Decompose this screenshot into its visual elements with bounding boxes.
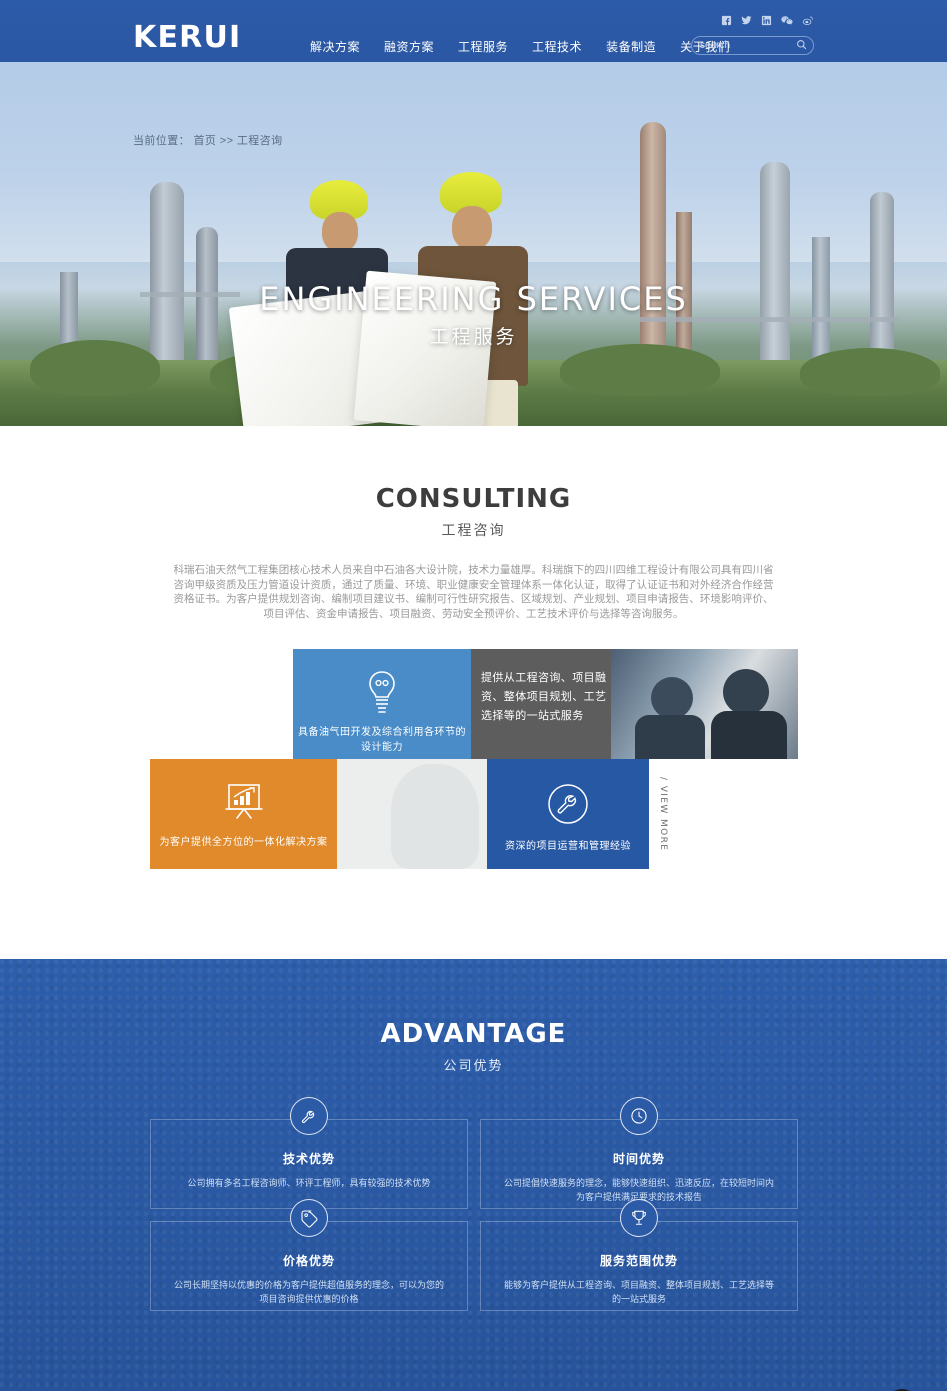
feature-blocks: 具备油气田开发及综合利用各环节的设计能力 提供从工程咨询、项目融资、整体项目规划…: [0, 649, 947, 897]
feature-block-one-stop-service[interactable]: 提供从工程咨询、项目融资、整体项目规划、工艺选择等的一站式服务: [471, 649, 611, 759]
decorative-silhouette: [391, 764, 479, 869]
social-links: [721, 15, 814, 26]
advantage-title-en: ADVANTAGE: [0, 1019, 947, 1049]
banner-title-en: ENGINEERING SERVICES: [0, 280, 947, 318]
breadcrumb: 当前位置： 首页 >> 工程咨询: [133, 132, 282, 148]
nav-item-equipment-manufacturing[interactable]: 装备制造: [606, 38, 656, 55]
wechat-icon[interactable]: [781, 15, 793, 26]
twitter-icon[interactable]: [741, 15, 752, 26]
photo-person-body: [711, 711, 787, 759]
clock-icon: [620, 1097, 658, 1135]
worker-face: [322, 212, 358, 252]
banner-title-cn: 工程服务: [0, 322, 947, 349]
advantage-card-service-scope[interactable]: 服务范围优势 能够为客户提供从工程咨询、项目融资、整体项目规划、工艺选择等的一站…: [480, 1221, 798, 1311]
trophy-icon: [620, 1199, 658, 1237]
nav-item-engineering-services[interactable]: 工程服务: [458, 38, 508, 55]
breadcrumb-prefix: 当前位置：: [133, 135, 190, 147]
consulting-section: CONSULTING 工程咨询 科瑞石油天然气工程集团核心技术人员来自中石油各大…: [0, 426, 947, 621]
presentation-chart-icon: [222, 781, 266, 823]
advantage-heading: ADVANTAGE 公司优势: [0, 959, 947, 1074]
view-more-link[interactable]: / VIEW MORE: [652, 759, 674, 869]
advantage-card-time[interactable]: 时间优势 公司提倡快速服务的理念，能够快速组织、迅速反应，在较短时间内为客户提供…: [480, 1119, 798, 1209]
feature-block-caption: 资深的项目运营和管理经验: [487, 839, 649, 854]
feature-block-management-experience[interactable]: 资深的项目运营和管理经验: [487, 759, 649, 869]
advantage-card-text: 公司长期坚持以优惠的价格为客户提供超值服务的理念，可以为您的项目咨询提供优惠的价…: [173, 1278, 445, 1306]
view-more-label: / VIEW MORE: [658, 777, 668, 851]
breadcrumb-current: 工程咨询: [237, 135, 283, 147]
advantage-card-title: 时间优势: [481, 1150, 797, 1167]
photo-person-body: [635, 715, 705, 759]
consulting-title-en: CONSULTING: [0, 484, 947, 514]
feature-block-caption: 为客户提供全方位的一体化解决方案: [150, 835, 337, 850]
linkedin-icon[interactable]: [761, 15, 772, 26]
price-tag-icon: [290, 1199, 328, 1237]
advantage-card-title: 服务范围优势: [481, 1252, 797, 1269]
lightbulb-icon: [362, 669, 402, 715]
site-header: KERUI 解决方案 融资方案 工程服务 工程技术 装备制造 关于我们: [0, 0, 947, 62]
logo[interactable]: KERUI: [133, 20, 241, 55]
advantage-card-title: 价格优势: [151, 1252, 467, 1269]
page-root: KERUI 解决方案 融资方案 工程服务 工程技术 装备制造 关于我们: [0, 0, 947, 1391]
advantage-title-cn: 公司优势: [0, 1055, 947, 1074]
main-nav: 解决方案 融资方案 工程服务 工程技术 装备制造 关于我们: [310, 38, 730, 55]
feature-block-caption: 具备油气田开发及综合利用各环节的设计能力: [293, 725, 471, 755]
worker-face: [452, 206, 492, 250]
advantage-card-text: 公司拥有多名工程咨询师、环评工程师，具有较强的技术优势: [173, 1176, 445, 1190]
advantage-section: ADVANTAGE 公司优势 技术优势 公司拥有多名工程咨询师、环评工程师，具有…: [0, 959, 947, 1391]
feature-block-integrated-solution[interactable]: 为客户提供全方位的一体化解决方案: [150, 759, 337, 869]
breadcrumb-separator: >>: [220, 135, 234, 147]
wrench-icon: [290, 1097, 328, 1135]
advantage-grid: 技术优势 公司拥有多名工程咨询师、环评工程师，具有较强的技术优势 时间优势 公司…: [150, 1119, 798, 1311]
feature-block-text: 提供从工程咨询、项目融资、整体项目规划、工艺选择等的一站式服务: [471, 649, 611, 726]
bush: [800, 348, 940, 396]
facebook-icon[interactable]: [721, 15, 732, 26]
nav-item-solutions[interactable]: 解决方案: [310, 38, 360, 55]
feature-block-design-capability[interactable]: 具备油气田开发及综合利用各环节的设计能力: [293, 649, 471, 759]
banner-title: ENGINEERING SERVICES 工程服务: [0, 280, 947, 349]
nav-item-financing[interactable]: 融资方案: [384, 38, 434, 55]
breadcrumb-home[interactable]: 首页: [193, 135, 216, 147]
advantage-card-title: 技术优势: [151, 1150, 467, 1167]
bush: [560, 344, 720, 396]
search-input[interactable]: [700, 40, 796, 51]
advantage-card-text: 能够为客户提供从工程咨询、项目融资、整体项目规划、工艺选择等的一站式服务: [503, 1278, 775, 1306]
consulting-description: 科瑞石油天然气工程集团核心技术人员来自中石油各大设计院，技术力量雄厚。科瑞旗下的…: [174, 563, 774, 621]
feature-block-photo: [611, 649, 798, 759]
advantage-card-technology[interactable]: 技术优势 公司拥有多名工程咨询师、环评工程师，具有较强的技术优势: [150, 1119, 468, 1209]
nav-item-engineering-technology[interactable]: 工程技术: [532, 38, 582, 55]
advantage-card-price[interactable]: 价格优势 公司长期坚持以优惠的价格为客户提供超值服务的理念，可以为您的项目咨询提…: [150, 1221, 468, 1311]
photo-person: [651, 677, 693, 719]
feature-block-texture: [337, 759, 487, 869]
search-box[interactable]: [691, 36, 814, 55]
photo-person: [723, 669, 769, 715]
wrench-icon: [547, 783, 589, 825]
consulting-title-cn: 工程咨询: [0, 520, 947, 540]
hero-banner: 当前位置： 首页 >> 工程咨询 ENGINEERING SERVICES 工程…: [0, 62, 947, 426]
weibo-icon[interactable]: [802, 15, 814, 26]
search-icon[interactable]: [796, 37, 807, 55]
